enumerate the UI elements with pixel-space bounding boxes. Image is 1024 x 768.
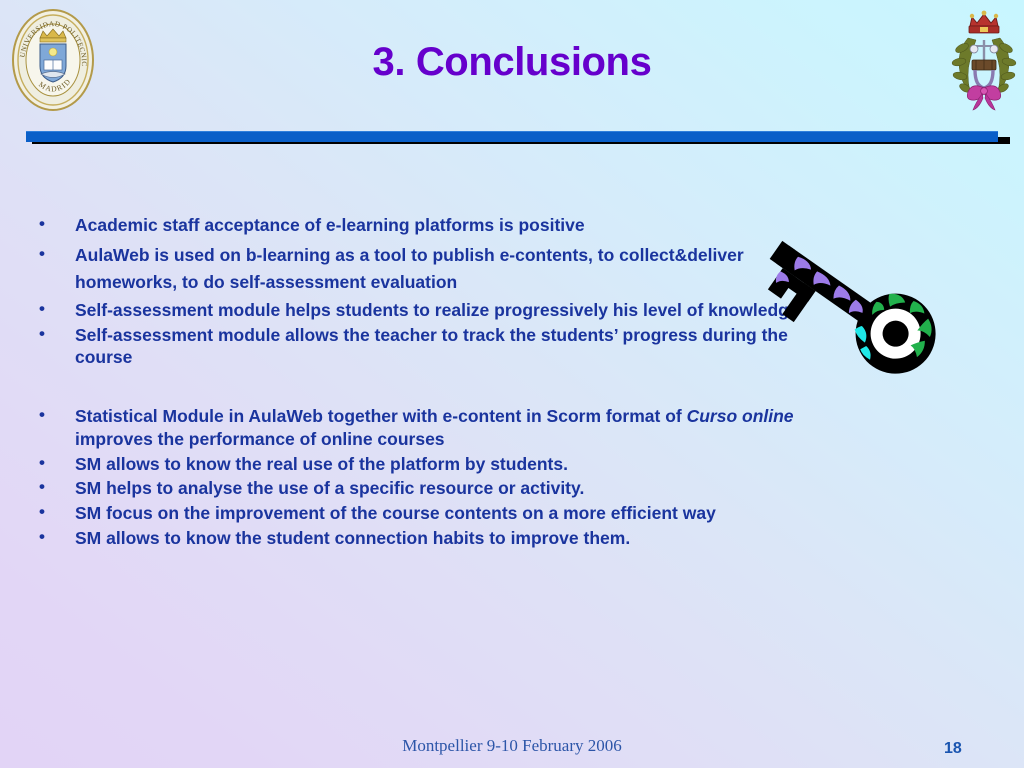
list-item: SM allows to know the real use of the pl…: [30, 453, 820, 476]
bullet-group-1: Academic staff acceptance of e-learning …: [30, 212, 820, 369]
list-item: Self-assessment module allows the teache…: [30, 324, 820, 370]
list-item-text-before: Statistical Module in AulaWeb together w…: [75, 406, 687, 426]
list-item: SM focus on the improvement of the cours…: [30, 502, 820, 525]
bullet-group-2: Statistical Module in AulaWeb together w…: [30, 405, 820, 550]
list-item: SM helps to analyse the use of a specifi…: [30, 477, 820, 500]
list-item: AulaWeb is used on b-learning as a tool …: [30, 242, 820, 297]
list-item: Self-assessment module helps students to…: [30, 299, 820, 322]
title-divider-rule: [26, 131, 1010, 148]
list-item: SM allows to know the student connection…: [30, 527, 820, 550]
list-item: Academic staff acceptance of e-learning …: [30, 212, 820, 240]
slide-canvas: UNIVERSIDAD POLITECNICA MADRID: [0, 0, 1024, 768]
footer-note: Montpellier 9-10 February 2006: [0, 736, 1024, 756]
key-icon: [744, 228, 952, 380]
rule-bar: [26, 131, 998, 142]
list-item-text-after: improves the performance of online cours…: [75, 429, 445, 449]
bullet-content: Academic staff acceptance of e-learning …: [30, 212, 820, 552]
page-number: 18: [944, 740, 962, 758]
page-title: 3. Conclusions: [0, 42, 1024, 82]
list-item: Statistical Module in AulaWeb together w…: [30, 405, 820, 451]
list-item-emphasis: Curso online: [687, 406, 794, 426]
